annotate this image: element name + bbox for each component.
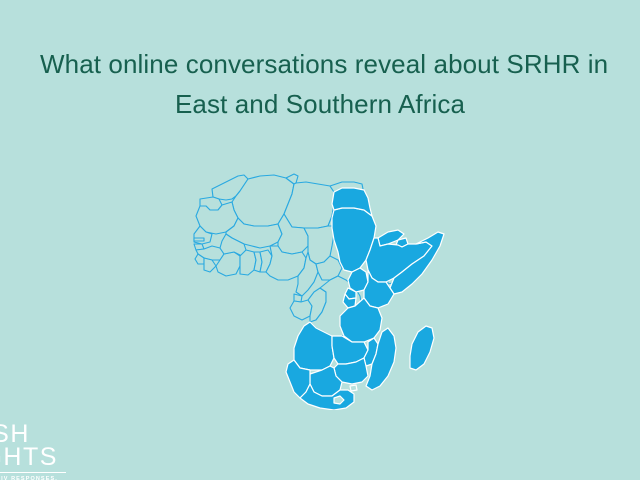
country-madagascar	[410, 326, 434, 370]
page-title: What online conversations reveal about S…	[40, 44, 600, 124]
africa-map	[182, 142, 464, 410]
logo-strip: ESH IGHTS RTER HIV RESPONSES. UNAI	[0, 415, 640, 480]
country-eswatini	[350, 385, 357, 391]
presentation-slide: What online conversations reveal about S…	[0, 0, 640, 480]
country-ghana	[240, 250, 256, 275]
fresh-logo-line-2: IGHTS	[0, 446, 94, 469]
country-gabon	[290, 300, 312, 320]
africa-map-svg	[182, 142, 464, 410]
title-line-1: What online conversations reveal about S…	[40, 44, 600, 84]
title-line-2: East and Southern Africa	[40, 84, 600, 124]
fresh-logo-divider	[0, 472, 66, 473]
fresh-insights-logo: ESH IGHTS RTER HIV RESPONSES.	[0, 423, 94, 480]
country-gambia	[194, 238, 204, 241]
fresh-logo-tagline: RTER HIV RESPONSES.	[0, 476, 94, 480]
